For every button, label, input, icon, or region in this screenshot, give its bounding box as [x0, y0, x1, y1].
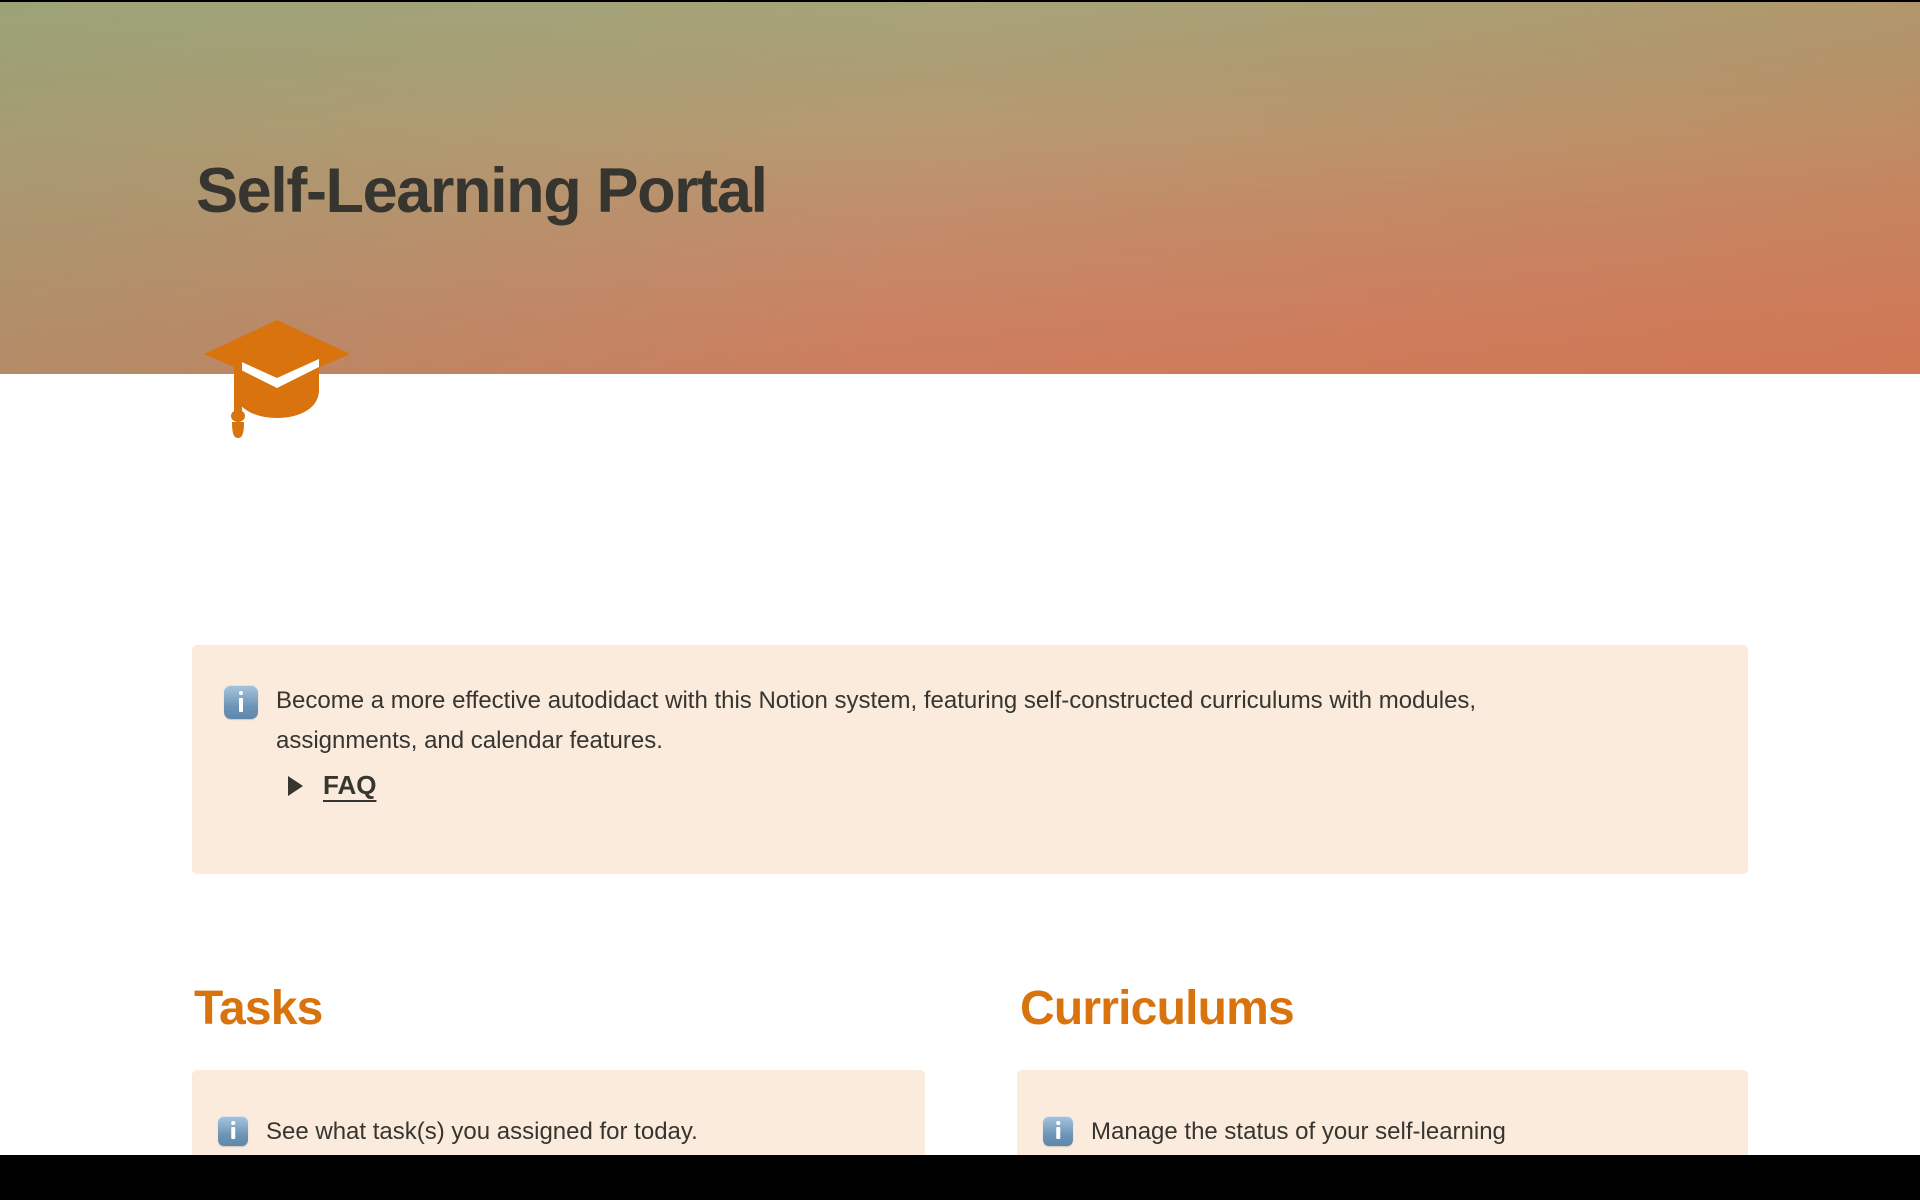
curriculums-callout-text: Manage the status of your self-learning	[1091, 1114, 1506, 1150]
info-callout-text: Become a more effective autodidact with …	[276, 681, 1576, 760]
information-icon	[218, 1116, 248, 1146]
top-edge-bar	[0, 0, 1920, 2]
toggle-triangle-right-icon[interactable]	[288, 776, 303, 796]
tasks-callout-text: See what task(s) you assigned for today.	[266, 1114, 698, 1150]
information-icon	[224, 685, 258, 719]
faq-toggle-label[interactable]: FAQ	[323, 770, 376, 801]
graduation-cap-icon[interactable]	[202, 316, 352, 440]
info-callout-block[interactable]: Become a more effective autodidact with …	[192, 645, 1748, 874]
section-heading-curriculums[interactable]: Curriculums	[1020, 981, 1294, 1036]
faq-toggle[interactable]: FAQ	[288, 770, 376, 801]
section-heading-tasks[interactable]: Tasks	[194, 981, 323, 1036]
notion-page: Self-Learning Portal Become a more effec…	[0, 0, 1920, 1200]
page-title[interactable]: Self-Learning Portal	[196, 157, 767, 226]
information-icon	[1043, 1116, 1073, 1146]
bottom-edge-bar	[0, 1155, 1920, 1200]
